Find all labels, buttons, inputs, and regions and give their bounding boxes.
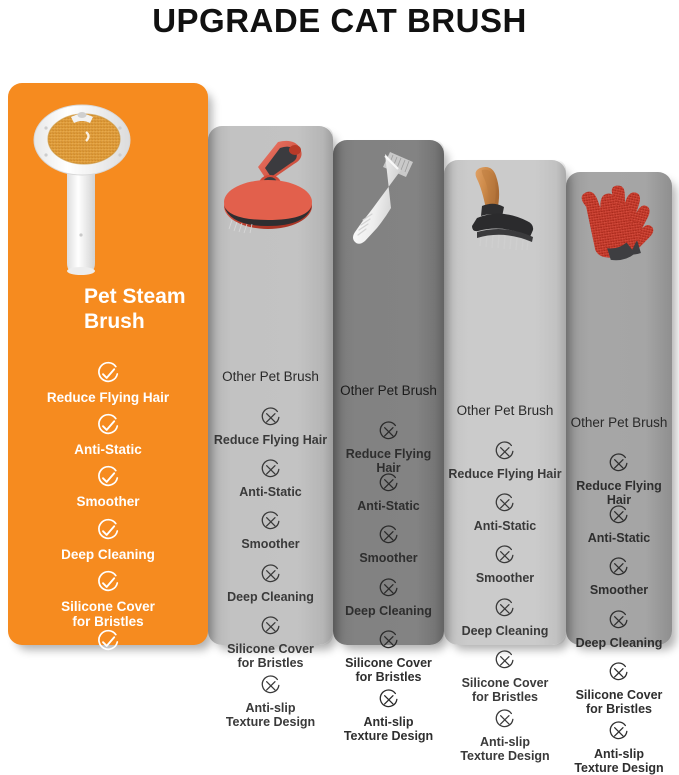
- x-icon: [259, 615, 283, 639]
- feature-label: Smoother: [444, 571, 566, 585]
- feature-label: Reduce Flying Hair: [566, 479, 672, 507]
- feature-label: Deep Cleaning: [566, 636, 672, 650]
- x-icon: [377, 577, 401, 601]
- x-icon: [493, 649, 517, 673]
- feature-label: Smoother: [208, 537, 333, 551]
- comparison-card-other-pet-brush-4: Other Pet Brush Reduce Flying Hair Anti-…: [566, 172, 672, 645]
- feature-label: Anti-Static: [8, 442, 208, 457]
- grooming-glove-icon: [572, 178, 668, 264]
- feature-label: Anti-slip Texture Design: [333, 715, 444, 743]
- feature-row-reduce-flying-hair: Reduce Flying Hair: [208, 406, 333, 447]
- feature-label: Reduce Flying Hair: [333, 447, 444, 475]
- feature-label: Reduce Flying Hair: [444, 467, 566, 481]
- x-icon: [377, 524, 401, 548]
- deshedding-rake-icon: [458, 162, 554, 262]
- feature-row-anti-slip: Anti-slip Texture Design: [566, 720, 672, 775]
- feature-row-silicone-cover: Silicone Cover for Bristles: [566, 661, 672, 716]
- check-icon: [95, 570, 121, 596]
- feature-row-deep-cleaning: Deep Cleaning: [444, 597, 566, 638]
- x-icon: [607, 661, 631, 685]
- comparison-card-pet-steam-brush: Pet Steam Brush Reduce Flying Hair Anti-…: [8, 83, 208, 645]
- column-head-label: Other Pet Brush: [333, 383, 444, 398]
- feature-row-anti-slip: Anti-slip Texture Design: [333, 688, 444, 743]
- x-icon: [259, 563, 283, 587]
- x-icon: [377, 629, 401, 653]
- feature-label: Anti-Static: [208, 485, 333, 499]
- comparison-card-other-pet-brush-3: Other Pet Brush Reduce Flying Hair Anti-…: [444, 160, 566, 645]
- check-icon: [95, 518, 121, 544]
- feature-label: Anti-Static: [566, 531, 672, 545]
- hero-product-name: Pet Steam Brush: [84, 284, 202, 334]
- feature-row-smoother: Smoother: [333, 524, 444, 565]
- feature-row-smoother: Smoother: [8, 465, 208, 509]
- check-icon: [95, 361, 121, 387]
- x-icon: [493, 440, 517, 464]
- red-slicker-brush-icon: [220, 132, 321, 242]
- feature-label: Reduce Flying Hair: [208, 433, 333, 447]
- feature-row-silicone-cover: Silicone Cover for Bristles: [333, 629, 444, 684]
- white-comb-icon: [349, 144, 429, 256]
- feature-row-reduce-flying-hair: Reduce Flying Hair: [566, 452, 672, 507]
- feature-row-smoother: Smoother: [566, 556, 672, 597]
- check-icon: [95, 413, 121, 439]
- feature-label: Smoother: [333, 551, 444, 565]
- x-icon: [493, 708, 517, 732]
- column-head-label: Other Pet Brush: [444, 403, 566, 418]
- feature-row-anti-static: Anti-Static: [8, 413, 208, 457]
- feature-row-anti-static: Anti-Static: [208, 458, 333, 499]
- check-icon: [95, 465, 121, 491]
- feature-label: Silicone Cover for Bristles: [8, 599, 208, 629]
- feature-label: Deep Cleaning: [444, 624, 566, 638]
- feature-row-anti-slip: Anti-slip Texture Design: [444, 708, 566, 763]
- x-icon: [377, 420, 401, 444]
- feature-row-silicone-cover: Silicone Cover for Bristles: [208, 615, 333, 670]
- feature-row-smoother: Smoother: [208, 510, 333, 551]
- feature-row-anti-slip: Anti-slip Texture Design: [208, 674, 333, 729]
- feature-label: Smoother: [8, 494, 208, 509]
- feature-row-deep-cleaning: Deep Cleaning: [208, 563, 333, 604]
- feature-label: Anti-slip Texture Design: [8, 658, 208, 688]
- feature-row-anti-static: Anti-Static: [444, 492, 566, 533]
- feature-label: Silicone Cover for Bristles: [333, 656, 444, 684]
- feature-row-deep-cleaning: Deep Cleaning: [8, 518, 208, 562]
- x-icon: [259, 674, 283, 698]
- feature-row-silicone-cover: Silicone Cover for Bristles: [444, 649, 566, 704]
- feature-label: Anti-slip Texture Design: [566, 747, 672, 775]
- x-icon: [607, 609, 631, 633]
- x-icon: [259, 406, 283, 430]
- comparison-card-other-pet-brush-2: Other Pet Brush Reduce Flying Hair Anti-…: [333, 140, 444, 645]
- feature-label: Silicone Cover for Bristles: [444, 676, 566, 704]
- white-steam-brush-icon: [24, 95, 144, 280]
- feature-row-anti-static: Anti-Static: [566, 504, 672, 545]
- x-icon: [493, 492, 517, 516]
- x-icon: [377, 688, 401, 712]
- feature-row-deep-cleaning: Deep Cleaning: [333, 577, 444, 618]
- feature-label: Deep Cleaning: [208, 590, 333, 604]
- feature-row-anti-static: Anti-Static: [333, 472, 444, 513]
- x-icon: [493, 597, 517, 621]
- feature-row-deep-cleaning: Deep Cleaning: [566, 609, 672, 650]
- column-head-label: Other Pet Brush: [208, 369, 333, 384]
- feature-label: Deep Cleaning: [8, 547, 208, 562]
- check-icon: [95, 629, 121, 655]
- x-icon: [607, 720, 631, 744]
- feature-label: Anti-slip Texture Design: [444, 735, 566, 763]
- comparison-card-other-pet-brush-1: Other Pet Brush Reduce Flying Hair Anti-…: [208, 126, 333, 645]
- feature-label: Anti-Static: [333, 499, 444, 513]
- x-icon: [259, 510, 283, 534]
- feature-label: Silicone Cover for Bristles: [566, 688, 672, 716]
- feature-row-silicone-cover: Silicone Cover for Bristles: [8, 570, 208, 629]
- feature-label: Silicone Cover for Bristles: [208, 642, 333, 670]
- feature-label: Smoother: [566, 583, 672, 597]
- x-icon: [607, 504, 631, 528]
- feature-label: Anti-Static: [444, 519, 566, 533]
- x-icon: [607, 452, 631, 476]
- x-icon: [377, 472, 401, 496]
- feature-row-reduce-flying-hair: Reduce Flying Hair: [333, 420, 444, 475]
- feature-label: Anti-slip Texture Design: [208, 701, 333, 729]
- x-icon: [607, 556, 631, 580]
- feature-row-reduce-flying-hair: Reduce Flying Hair: [444, 440, 566, 481]
- feature-row-reduce-flying-hair: Reduce Flying Hair: [8, 361, 208, 405]
- page-title: UPGRADE CAT BRUSH: [0, 2, 679, 40]
- feature-label: Deep Cleaning: [333, 604, 444, 618]
- x-icon: [259, 458, 283, 482]
- column-head-label: Other Pet Brush: [566, 415, 672, 430]
- feature-label: Reduce Flying Hair: [8, 390, 208, 405]
- feature-row-smoother: Smoother: [444, 544, 566, 585]
- x-icon: [493, 544, 517, 568]
